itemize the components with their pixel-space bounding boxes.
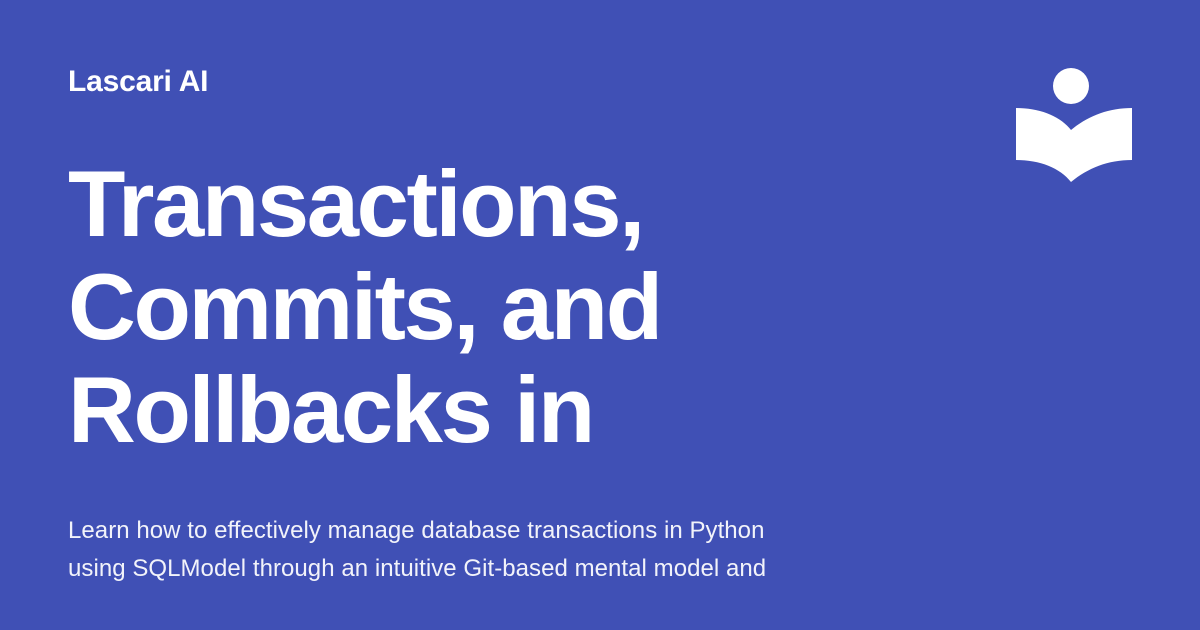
subtitle-line-2: using SQLModel through an intuitive Git-… — [68, 550, 968, 588]
page-description: Learn how to effectively manage database… — [68, 512, 968, 588]
subtitle-line-1: Learn how to effectively manage database… — [68, 512, 968, 550]
social-share-card: Lascari AI Transactions, Commits, and Ro… — [0, 0, 1200, 630]
brand-name: Lascari AI — [68, 60, 208, 97]
headline-line-1: Transactions, — [68, 152, 948, 255]
headline-line-2: Commits, and — [68, 255, 948, 358]
page-title: Transactions, Commits, and Rollbacks in — [68, 152, 948, 461]
open-book-reader-icon — [1016, 64, 1132, 186]
headline-line-3: Rollbacks in — [68, 358, 948, 461]
